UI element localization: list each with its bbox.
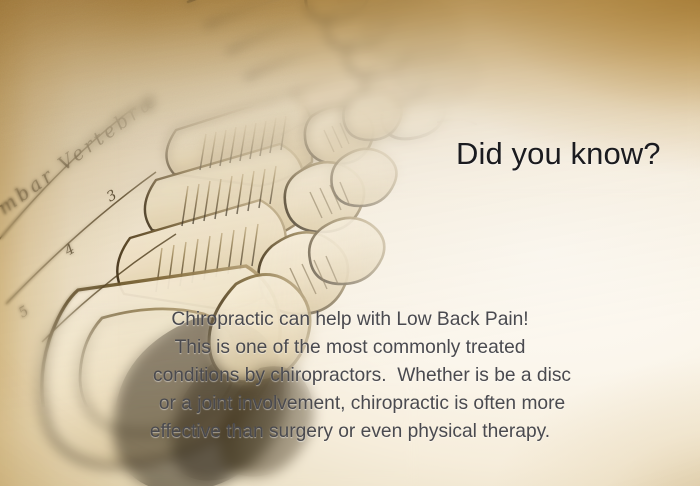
body-line-2: This is one of the most commonly treated bbox=[0, 334, 700, 362]
poster-canvas: Lumbar Vertebræ 3 4 5 Did you know? bbox=[0, 0, 700, 486]
page-title: Did you know? bbox=[456, 138, 661, 171]
body-line-5: effective than surgery or even physical … bbox=[0, 418, 700, 446]
body-line-3: conditions by chiropractors. Whether is … bbox=[12, 362, 700, 390]
body-line-4: or a joint involvement, chiropractic is … bbox=[12, 390, 700, 418]
body-line-1: Chiropractic can help with Low Back Pain… bbox=[0, 306, 700, 334]
body-copy: Chiropractic can help with Low Back Pain… bbox=[0, 306, 700, 446]
